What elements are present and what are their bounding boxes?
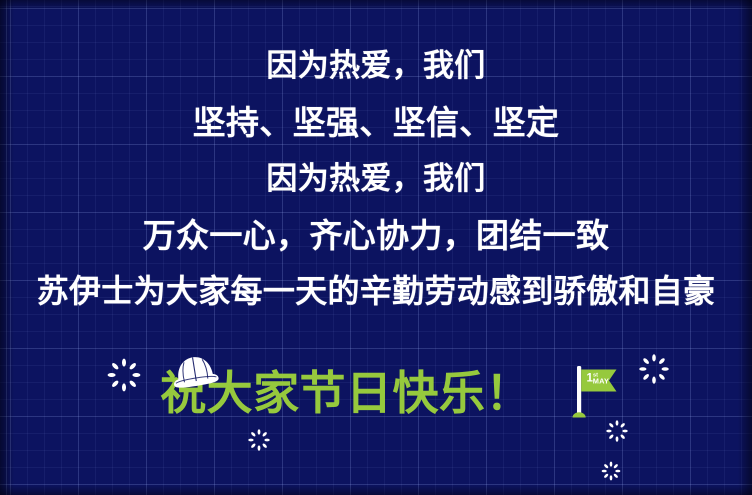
may-day-flag-icon: 1 st MAY — [568, 364, 620, 420]
greeting-row: 祝大家节日快乐！ — [0, 362, 752, 432]
verse-line-5: 苏伊士为大家每一天的辛勤劳动感到骄傲和自豪 — [0, 264, 752, 319]
hard-hat-icon — [168, 351, 222, 393]
verse-line-4: 万众一心，齐心协力，团结一致 — [0, 207, 752, 264]
verse-line-1: 因为热爱，我们 — [0, 38, 752, 94]
may-day-greeting-poster: 因为热爱，我们 坚持、坚强、坚信、坚定 因为热爱，我们 万众一心，齐心协力，团结… — [0, 0, 752, 495]
flag-month: MAY — [593, 377, 609, 386]
greeting-text: 祝大家节日快乐！ — [0, 362, 752, 424]
verse-line-2: 坚持、坚强、坚信、坚定 — [0, 94, 752, 151]
sparkle-burst-icon — [600, 460, 622, 482]
verse-block: 因为热爱，我们 坚持、坚强、坚信、坚定 因为热爱，我们 万众一心，齐心协力，团结… — [0, 38, 752, 319]
verse-line-3: 因为热爱，我们 — [0, 151, 752, 207]
